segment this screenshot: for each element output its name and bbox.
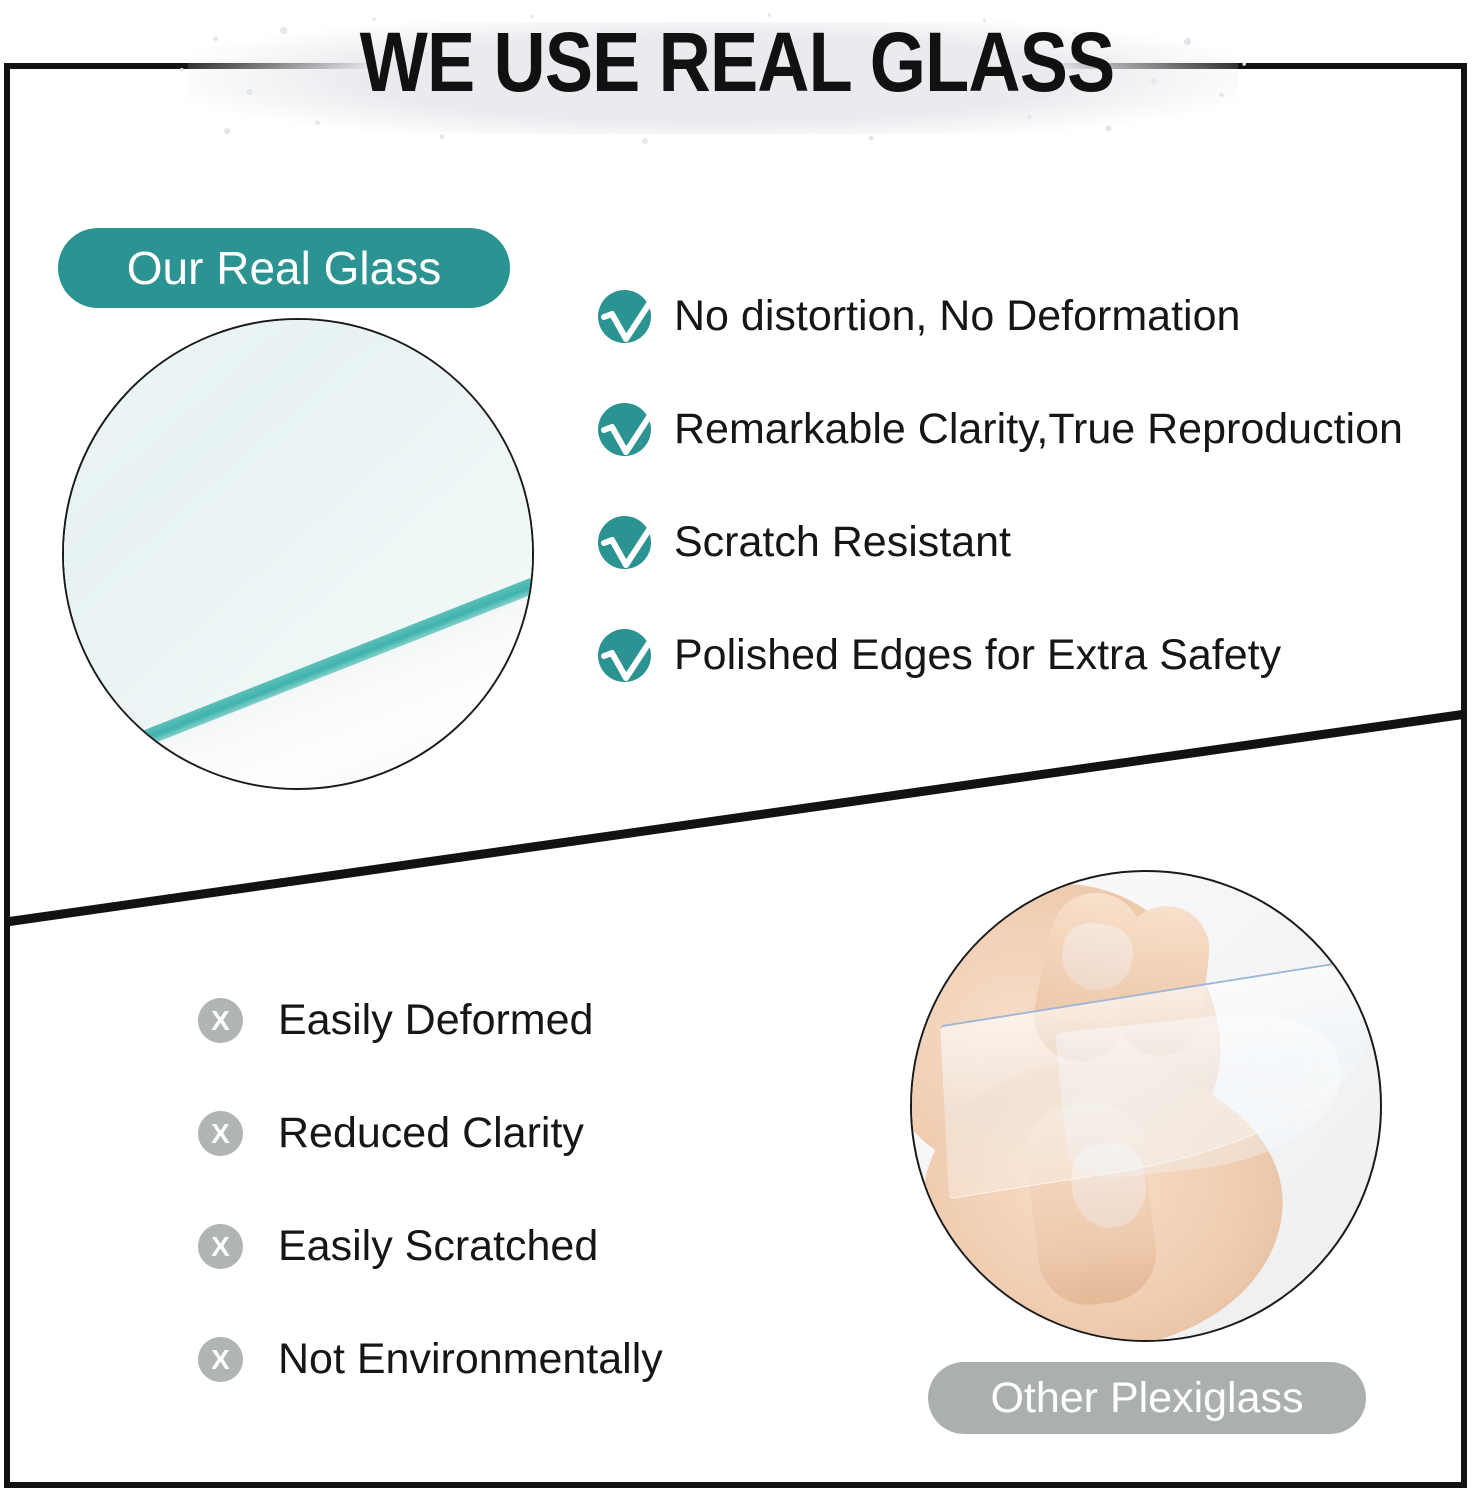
checkmark-icon <box>596 622 668 688</box>
x-circle-icon: X <box>198 1111 243 1156</box>
x-circle-icon: X <box>198 1337 243 1382</box>
checkmark-icon <box>596 283 668 349</box>
checkmark-icon <box>596 509 668 575</box>
list-item-label: Remarkable Clarity,True Reproduction <box>674 400 1403 458</box>
list-item-label: Not Environmentally <box>278 1330 663 1388</box>
list-item-label: Polished Edges for Extra Safety <box>674 626 1281 684</box>
checkmark-icon <box>596 396 668 462</box>
list-item-label: Easily Deformed <box>278 991 593 1049</box>
list-item: X Not Environmentally <box>198 1337 818 1450</box>
plexiglass-bend-highlight <box>1055 1004 1349 1182</box>
badge-our-real-glass: Our Real Glass <box>58 228 510 308</box>
list-item-label: Scratch Resistant <box>674 513 1011 571</box>
x-circle-icon: X <box>198 1224 243 1269</box>
list-item-label: Easily Scratched <box>278 1217 598 1275</box>
list-item: Scratch Resistant <box>598 516 1458 629</box>
list-item-label: No distortion, No Deformation <box>674 287 1240 345</box>
infographic-canvas: Our Real Glass No distortion, No Deforma… <box>0 0 1474 1500</box>
list-item: X Easily Scratched <box>198 1224 818 1337</box>
list-item-label: Reduced Clarity <box>278 1104 584 1162</box>
real-glass-feature-list: No distortion, No Deformation Remarkable… <box>598 290 1458 742</box>
page-title: WE USE REAL GLASS <box>103 6 1371 118</box>
x-circle-icon: X <box>198 998 243 1043</box>
list-item: Remarkable Clarity,True Reproduction <box>598 403 1458 516</box>
list-item: X Easily Deformed <box>198 998 818 1111</box>
real-glass-photo <box>62 318 534 790</box>
badge-other-plexiglass: Other Plexiglass <box>928 1362 1366 1434</box>
list-item: X Reduced Clarity <box>198 1111 818 1224</box>
plexiglass-drawback-list: X Easily Deformed X Reduced Clarity X Ea… <box>198 998 818 1450</box>
plexiglass-photo <box>910 870 1382 1342</box>
list-item: Polished Edges for Extra Safety <box>598 629 1458 742</box>
list-item: No distortion, No Deformation <box>598 290 1458 403</box>
